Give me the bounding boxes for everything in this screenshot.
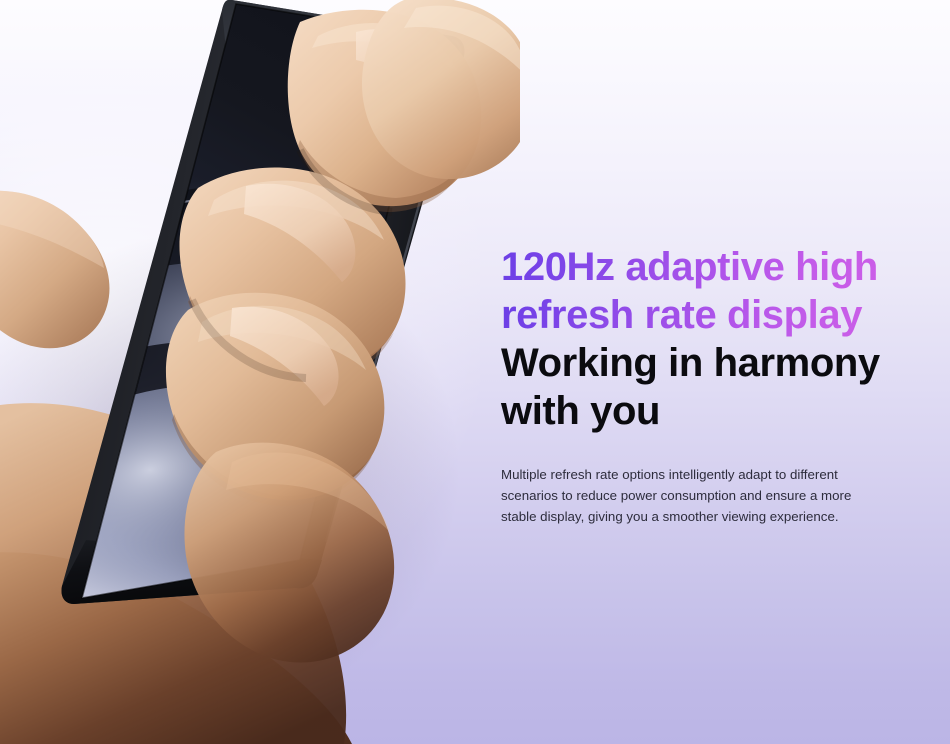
- page-title: 120Hz adaptive high refresh rate display…: [501, 243, 893, 435]
- hand-holding-phone-illustration: [0, 0, 520, 744]
- headline-gradient-line-2: refresh rate display: [501, 291, 893, 339]
- headline-gradient-line-1: 120Hz adaptive high: [501, 243, 893, 291]
- body-paragraph: Multiple refresh rate options intelligen…: [501, 464, 873, 527]
- headline-dark-line-2: with you: [501, 387, 893, 435]
- headline-dark-line-1: Working in harmony: [501, 339, 893, 387]
- promo-banner: 120Hz adaptive high refresh rate display…: [0, 0, 950, 744]
- phone-hand-svg: [0, 0, 520, 744]
- copy-block: 120Hz adaptive high refresh rate display…: [501, 243, 893, 527]
